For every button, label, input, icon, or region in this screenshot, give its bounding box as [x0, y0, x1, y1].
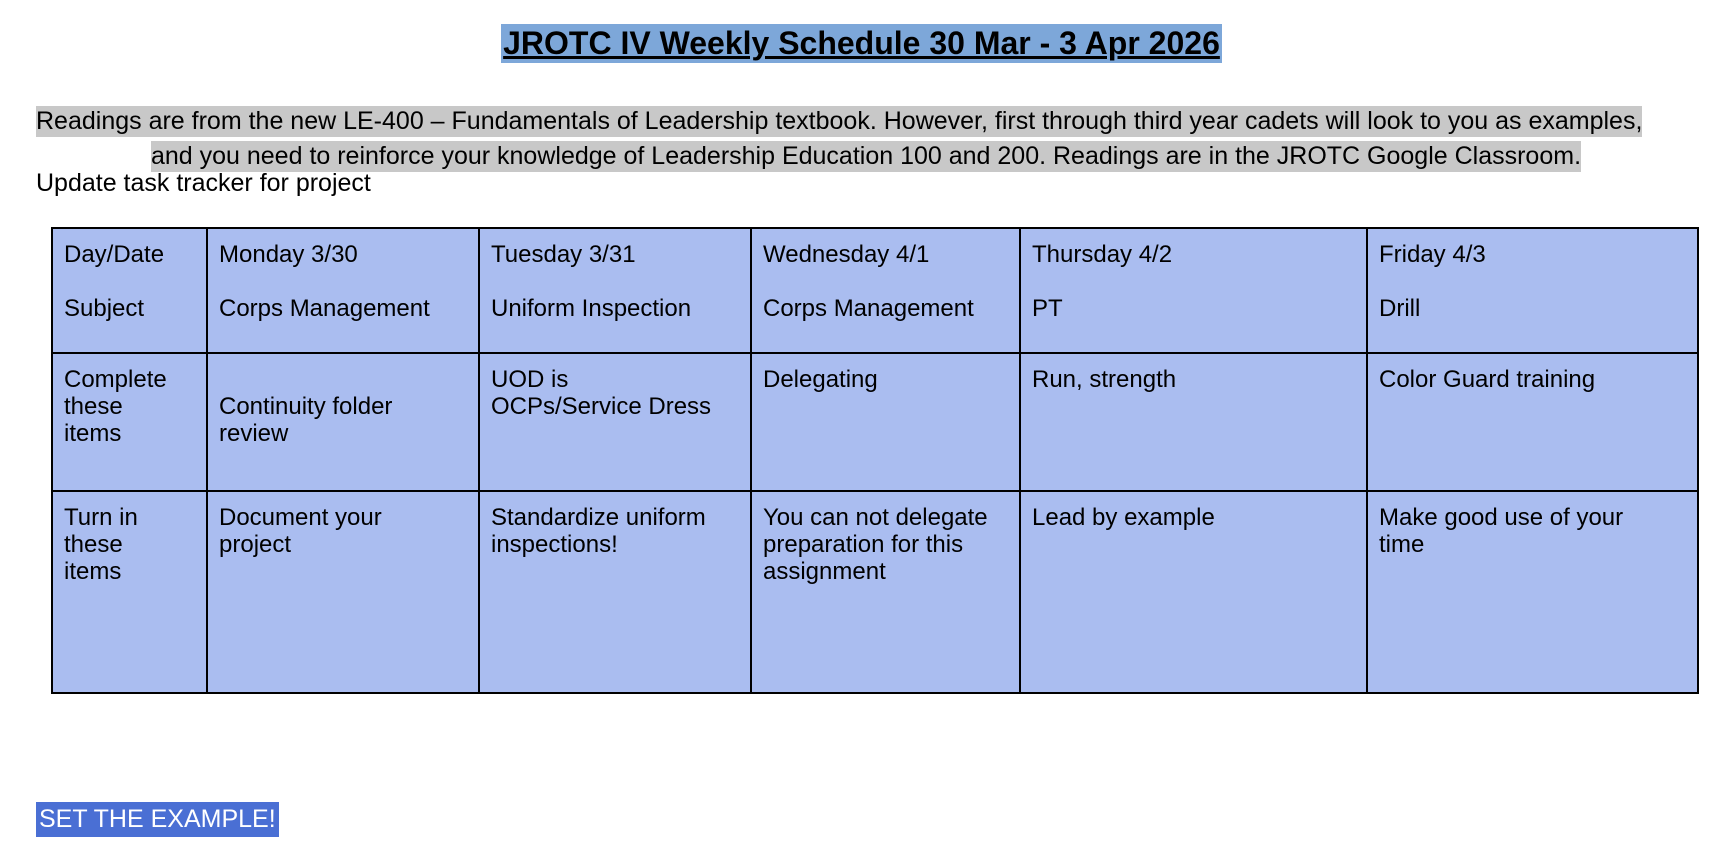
header-cell-tuesday: Tuesday 3/31 Uniform Inspection [479, 228, 751, 353]
header-date-wednesday: Wednesday 4/1 [763, 241, 1009, 268]
cell-turn-in-friday: Make good use of your time [1367, 491, 1698, 693]
cell-line: UOD is [491, 366, 740, 393]
header-cell-friday: Friday 4/3 Drill [1367, 228, 1698, 353]
cell-line: You can not delegate [763, 504, 1009, 531]
page-title: JROTC IV Weekly Schedule 30 Mar - 3 Apr … [501, 24, 1222, 63]
cell-complete-thursday: Run, strength [1020, 353, 1367, 491]
header-date-tuesday: Tuesday 3/31 [491, 241, 740, 268]
cell-complete-wednesday: Delegating [751, 353, 1020, 491]
header-subject-monday: Corps Management [219, 295, 468, 322]
cell-complete-friday: Color Guard training [1367, 353, 1698, 491]
cell-turn-in-thursday: Lead by example [1020, 491, 1367, 693]
cell-line: project [219, 531, 468, 558]
row-label-line: these [64, 393, 196, 420]
header-subject-tuesday: Uniform Inspection [491, 295, 740, 322]
cell-line: inspections! [491, 531, 740, 558]
intro-line-1-text: Readings are from the new LE-400 – Funda… [36, 106, 1642, 137]
row-label-line: these [64, 531, 196, 558]
page-title-container: JROTC IV Weekly Schedule 30 Mar - 3 Apr … [0, 22, 1723, 65]
row-label-complete: Complete these items [52, 353, 207, 491]
header-date-thursday: Thursday 4/2 [1032, 241, 1356, 268]
header-cell-thursday: Thursday 4/2 PT [1020, 228, 1367, 353]
row-label-line: items [64, 420, 196, 447]
cell-complete-monday: Continuity folder review [207, 353, 479, 491]
cell-line: Delegating [763, 366, 1009, 393]
cell-turn-in-tuesday: Standardize uniform inspections! [479, 491, 751, 693]
task-tracker-note: Update task tracker for project [36, 168, 371, 198]
header-cell-monday: Monday 3/30 Corps Management [207, 228, 479, 353]
cell-line: Run, strength [1032, 366, 1356, 393]
cell-line: review [219, 420, 468, 447]
cell-line: Make good use of your [1379, 504, 1687, 531]
header-subject-wednesday: Corps Management [763, 295, 1009, 322]
header-date-friday: Friday 4/3 [1379, 241, 1687, 268]
cell-line: time [1379, 531, 1687, 558]
weekly-schedule-table: Day/Date Subject Monday 3/30 Corps Manag… [51, 227, 1699, 694]
cell-line: assignment [763, 558, 1009, 585]
cell-turn-in-monday: Document your project [207, 491, 479, 693]
cell-line: Standardize uniform [491, 504, 740, 531]
header-cell-label: Day/Date Subject [52, 228, 207, 353]
intro-line-1: Readings are from the new LE-400 – Funda… [36, 104, 1696, 139]
header-subject-friday: Drill [1379, 295, 1687, 322]
cell-line: preparation for this [763, 531, 1009, 558]
header-subject-thursday: PT [1032, 295, 1356, 322]
table-row-turn-in-these-items: Turn in these items Document your projec… [52, 491, 1698, 693]
header-label-sub: Subject [64, 295, 196, 322]
cell-line: Lead by example [1032, 504, 1356, 531]
cell-line: Document your [219, 504, 468, 531]
intro-paragraph: Readings are from the new LE-400 – Funda… [36, 104, 1696, 174]
cell-complete-tuesday: UOD is OCPs/Service Dress [479, 353, 751, 491]
header-date-monday: Monday 3/30 [219, 241, 468, 268]
row-label-turn-in: Turn in these items [52, 491, 207, 693]
footer-container: SET THE EXAMPLE! [36, 802, 279, 837]
row-label-line: Turn in [64, 504, 196, 531]
table-row-header: Day/Date Subject Monday 3/30 Corps Manag… [52, 228, 1698, 353]
row-label-line: items [64, 558, 196, 585]
row-label-line: Complete [64, 366, 196, 393]
table-row-complete-these-items: Complete these items Continuity folder r… [52, 353, 1698, 491]
cell-turn-in-wednesday: You can not delegate preparation for thi… [751, 491, 1020, 693]
cell-line: Continuity folder [219, 393, 468, 420]
cell-line: OCPs/Service Dress [491, 393, 740, 420]
set-the-example-text: SET THE EXAMPLE! [36, 802, 279, 837]
cell-line: Color Guard training [1379, 366, 1687, 393]
header-cell-wednesday: Wednesday 4/1 Corps Management [751, 228, 1020, 353]
header-label-main: Day/Date [64, 241, 196, 268]
